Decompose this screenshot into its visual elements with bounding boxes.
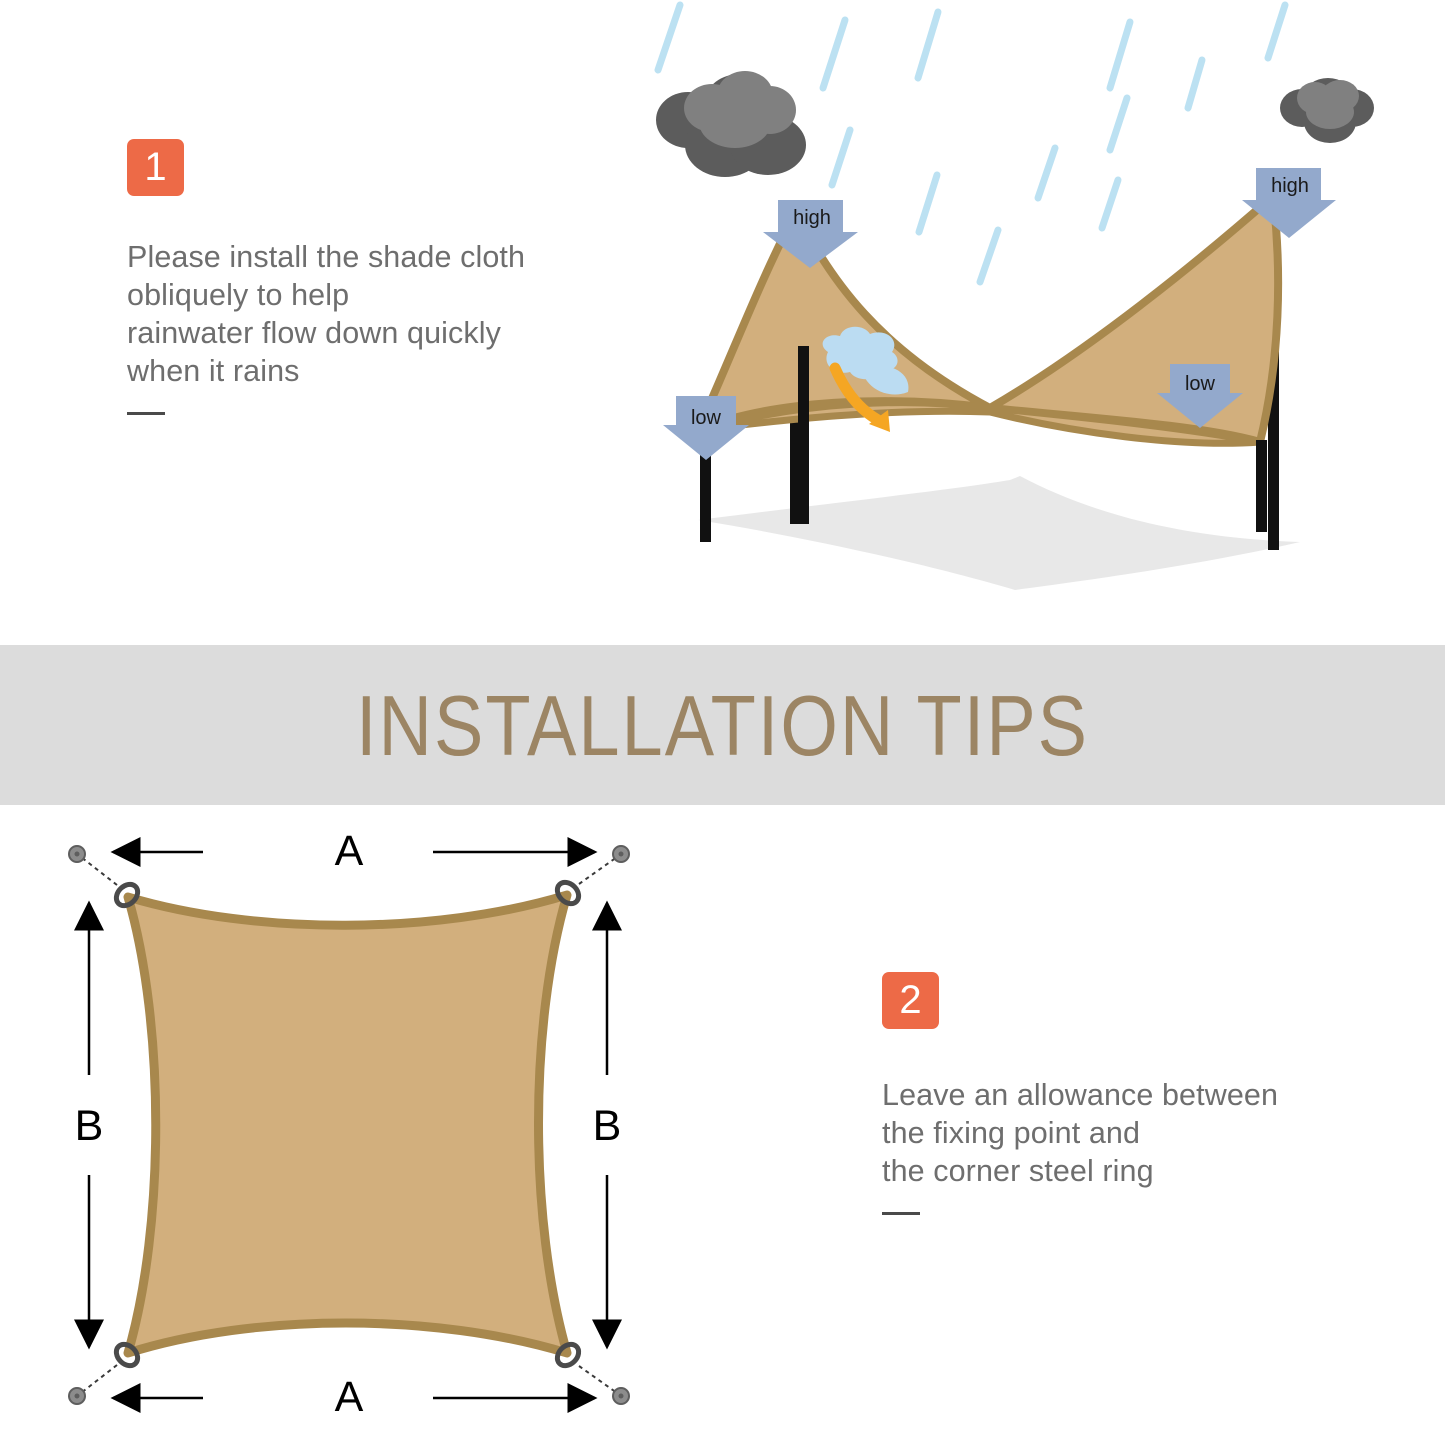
allowance-line-bottom-left [81,1365,117,1393]
rain-streak [823,20,845,88]
storm-cloud-left-icon [656,71,806,177]
step-2-divider [882,1212,920,1215]
callout-label-low: low [1185,373,1216,395]
callout-label-high: high [1271,175,1309,197]
infographic-page: 1 Please install the shade cloth oblique… [0,0,1445,1445]
rain-streak [832,130,850,185]
rain-streak [919,175,937,232]
square-sail-fabric [128,895,567,1353]
rain-streak [1188,60,1202,108]
step-1-block: 1 Please install the shade cloth oblique… [127,139,687,415]
banner-title: INSTALLATION TIPS [356,676,1089,774]
rain-streak [658,5,680,70]
step-1-divider [127,412,165,415]
support-pole-front-mid [798,346,809,524]
sail-left-lobe [698,212,990,430]
step-1-number-badge: 1 [127,139,184,196]
rain-streak [1110,98,1127,150]
dimension-bottom-A: A [113,1373,595,1421]
step-1-text: Please install the shade cloth obliquely… [127,238,687,390]
dimension-label-right: B [593,1102,622,1150]
installation-tips-banner: INSTALLATION TIPS [0,645,1445,805]
rain-streak [1110,22,1130,88]
dimension-right-B: B [593,903,622,1347]
step-2-number-badge: 2 [882,972,939,1029]
storm-cloud-right-icon [1280,78,1374,143]
step-2-block: 2 Leave an allowance between the fixing … [882,972,1422,1215]
allowance-line-bottom-right [579,1366,617,1393]
rain-streak [1268,5,1285,58]
square-shade-sail-dimensions-illustration: A A B B [55,835,705,1445]
dimension-label-top: A [335,835,364,875]
dimension-label-bottom: A [335,1373,364,1421]
ground-shadow [698,476,1300,590]
callout-label-high: high [793,207,831,229]
allowance-line-top-right [579,857,617,884]
dimension-top-A: A [113,835,595,875]
rain-streak [918,12,938,78]
sail-right-lobe [990,196,1278,442]
callout-label-low: low [691,407,722,429]
dimension-left-B: B [75,903,104,1347]
rain-streak [1102,180,1118,228]
dimension-label-left: B [75,1102,104,1150]
support-pole-front-right [1256,440,1267,532]
allowance-line-top-left [81,857,117,885]
step-2-text: Leave an allowance between the fixing po… [882,1076,1422,1190]
oblique-shade-sail-rain-illustration: high high low low [640,0,1445,630]
rain-streak [1038,148,1055,198]
rain-streak [980,230,998,282]
